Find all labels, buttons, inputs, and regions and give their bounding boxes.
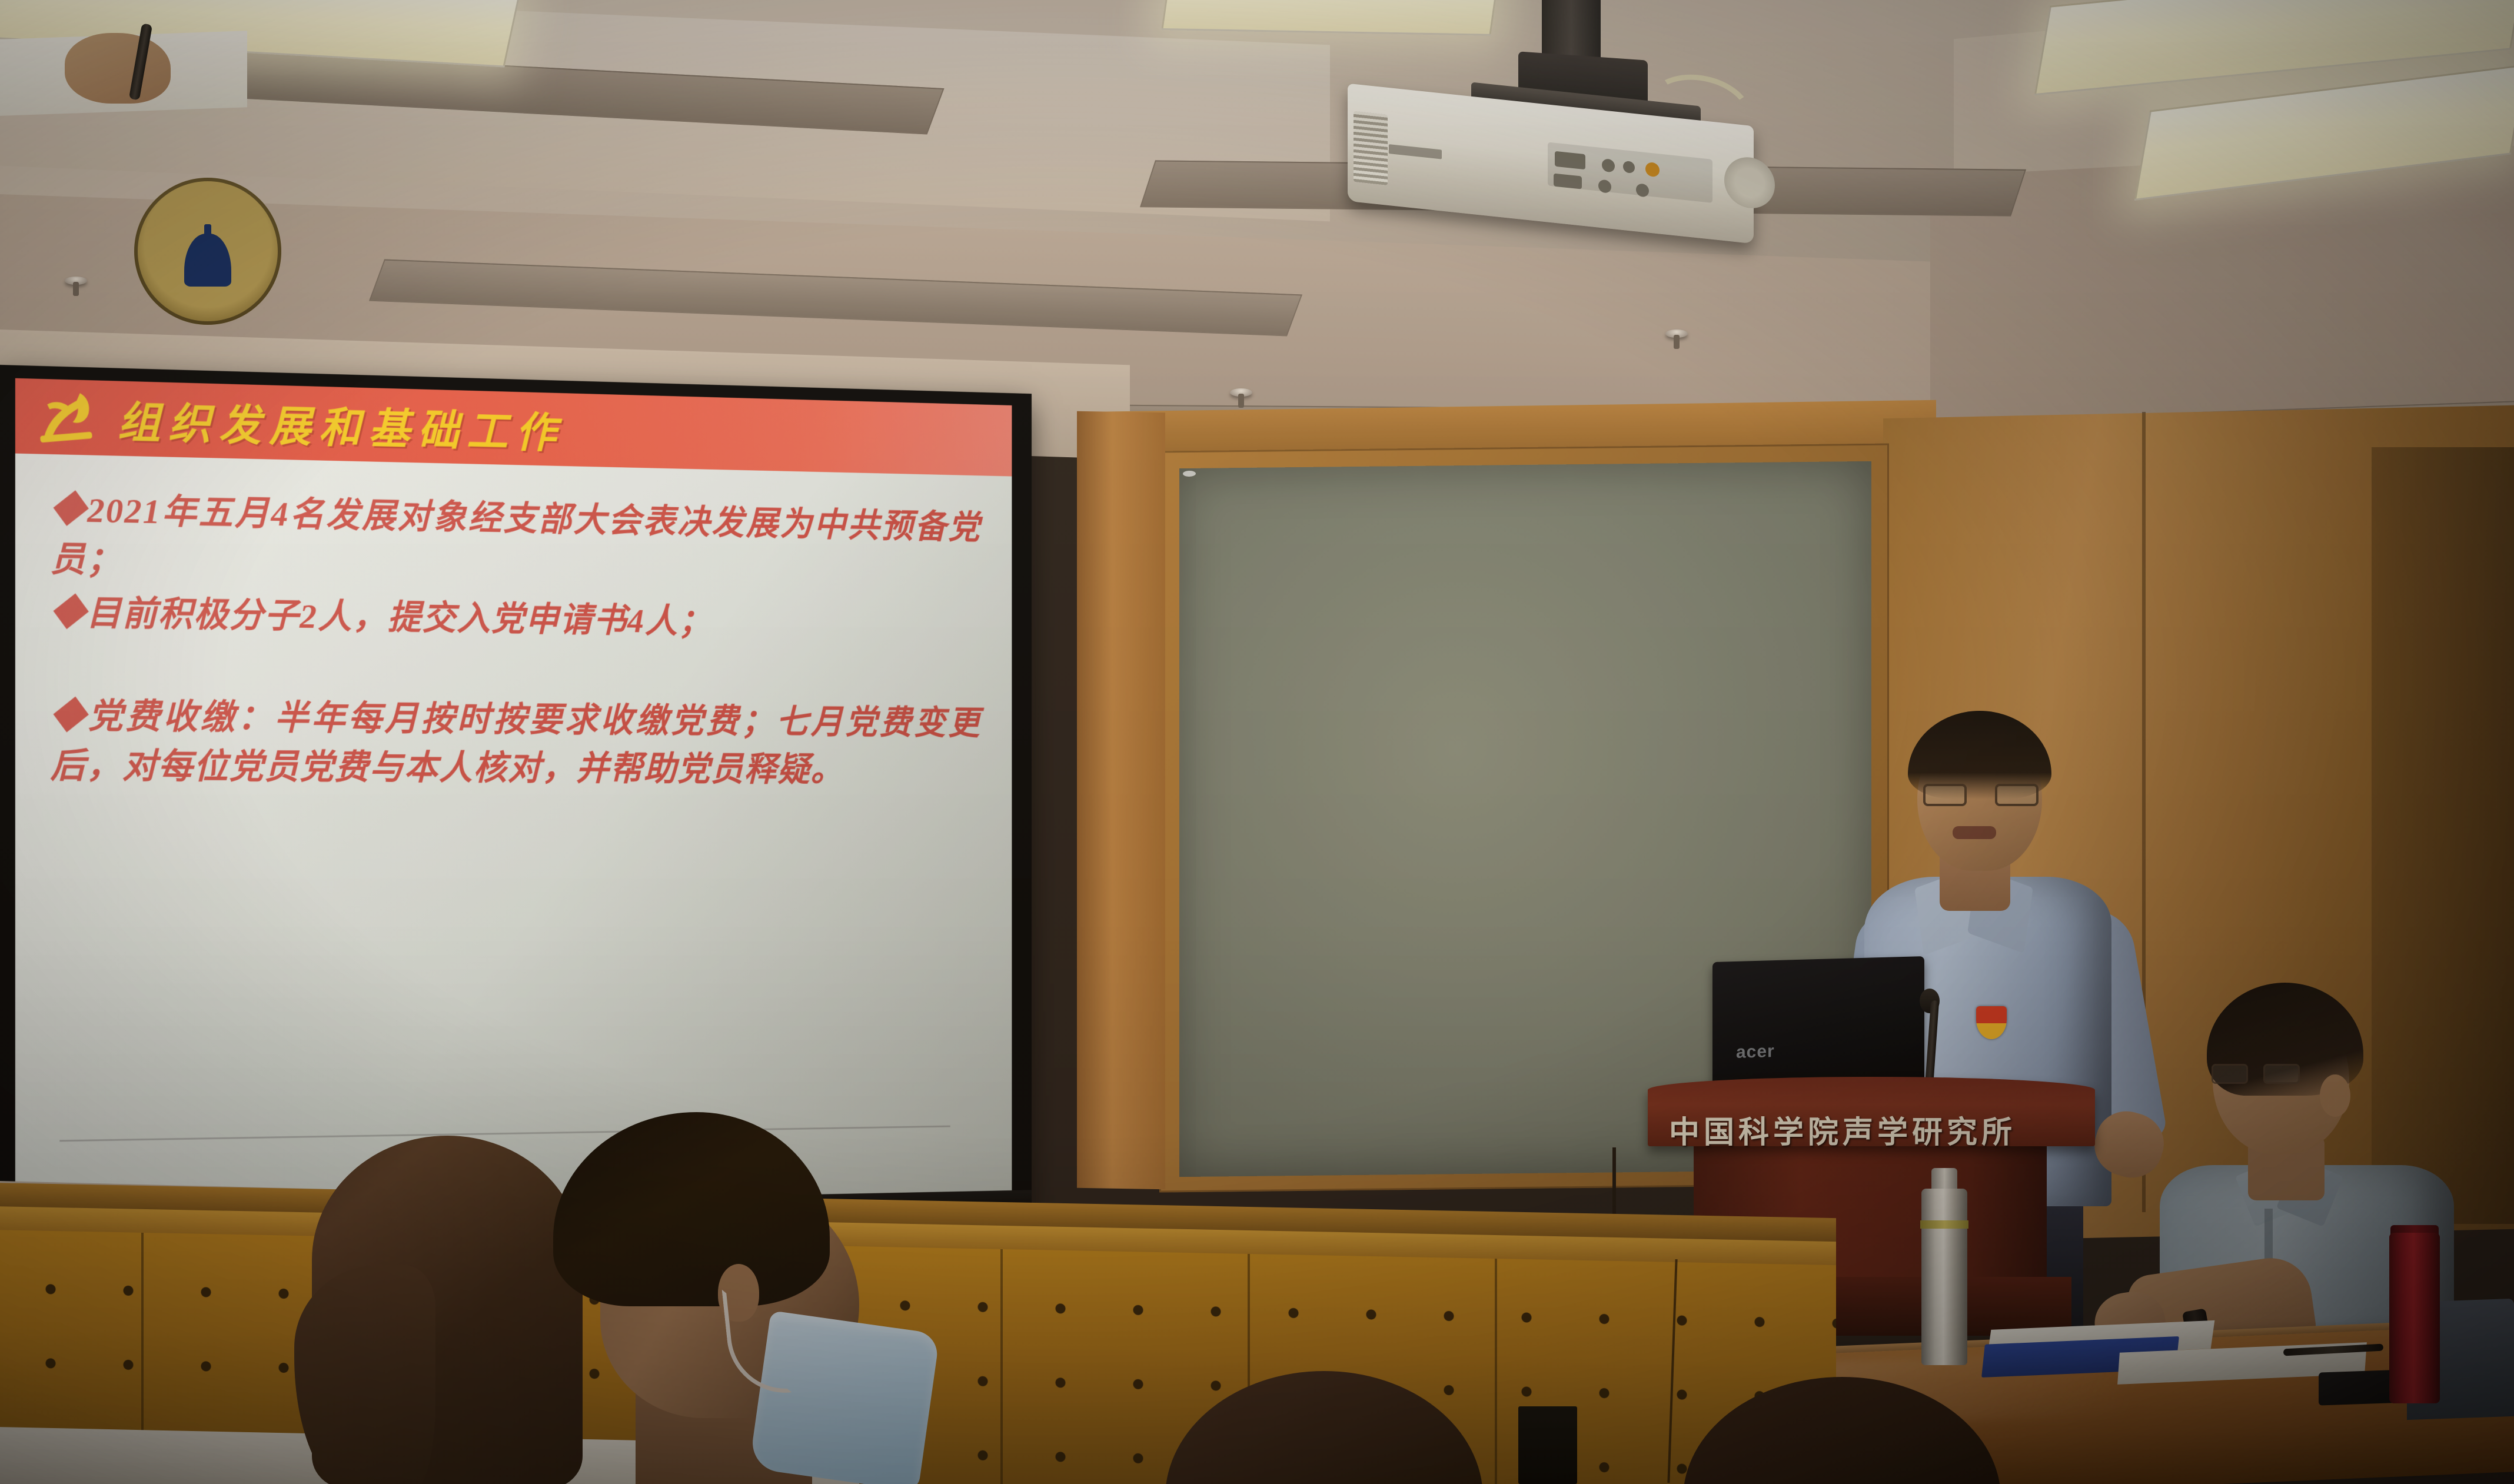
ceiling-sprinkler-icon <box>1230 388 1252 397</box>
silver-thermos <box>1921 1189 1967 1365</box>
slide-bullet: ◆2021年五月4名发展对象经支部大会表决发展为中共预备党员； <box>50 485 980 599</box>
lectern-front-panel: 中国科学院声学研究所 <box>1648 1077 2095 1146</box>
attendee-hair <box>553 1112 830 1306</box>
wall-mounted-fixture <box>1518 1406 1577 1484</box>
attendee-foreground-right <box>1683 1377 2013 1484</box>
laptop-brand-logo: acer <box>1736 1042 1775 1063</box>
presenter-mouth <box>1953 826 1996 839</box>
thermos-band <box>1920 1220 1968 1229</box>
projector-brand-logo <box>1389 144 1442 159</box>
seated-attendee-ear <box>2320 1074 2350 1117</box>
slide-spacer <box>50 642 980 700</box>
lectern-nameplate: 中国科学院声学研究所 <box>1669 1107 2081 1151</box>
ceiling-projector <box>1324 0 1771 224</box>
slide-surface: 组织发展和基础工作 ◆2021年五月4名发展对象经支部大会表决发展为中共预备党员… <box>15 378 1012 1211</box>
slide-bullet: ◆党费收缴：半年每月按时按要求收缴党费；七月党费变更后，对每位党员党费与本人核对… <box>50 691 980 794</box>
glasses-icon <box>1923 784 2039 807</box>
panel-seam <box>1495 1259 1497 1484</box>
bell-icon <box>184 234 231 287</box>
slide-title-banner: 组织发展和基础工作 <box>15 378 1012 477</box>
slide-title: 组织发展和基础工作 <box>118 387 564 460</box>
slide-bullet: ◆目前积极分子2人，提交入党申请书4人； <box>50 588 980 650</box>
ceiling-sprinkler-icon <box>65 277 87 285</box>
attendee-hair <box>1683 1377 2001 1484</box>
projector-vent-grille <box>1354 111 1388 185</box>
hammer-and-sickle-icon <box>35 388 96 446</box>
glasses-icon <box>2212 1064 2300 1085</box>
hand <box>65 33 171 104</box>
attendee-foreground-center <box>1165 1371 1495 1484</box>
institute-seal-emblem <box>134 178 281 325</box>
lectern-sign-text: 中国科学院声学研究所 <box>1669 1107 2016 1152</box>
meeting-room-scene: 组织发展和基础工作 ◆2021年五月4名发展对象经支部大会表决发展为中共预备党员… <box>0 0 2514 1484</box>
slide-body: ◆2021年五月4名发展对象经支部大会表决发展为中共预备党员； ◆目前积极分子2… <box>50 485 980 798</box>
laptop-computer: acer <box>1712 956 1924 1087</box>
red-thermos <box>2389 1233 2440 1403</box>
attendee-masked <box>518 1112 930 1484</box>
attendee-ponytail <box>294 1265 435 1484</box>
ceiling-sprinkler-icon <box>1665 330 1688 338</box>
panel-seam <box>1000 1249 1003 1484</box>
attendee-hair <box>1165 1371 1483 1484</box>
